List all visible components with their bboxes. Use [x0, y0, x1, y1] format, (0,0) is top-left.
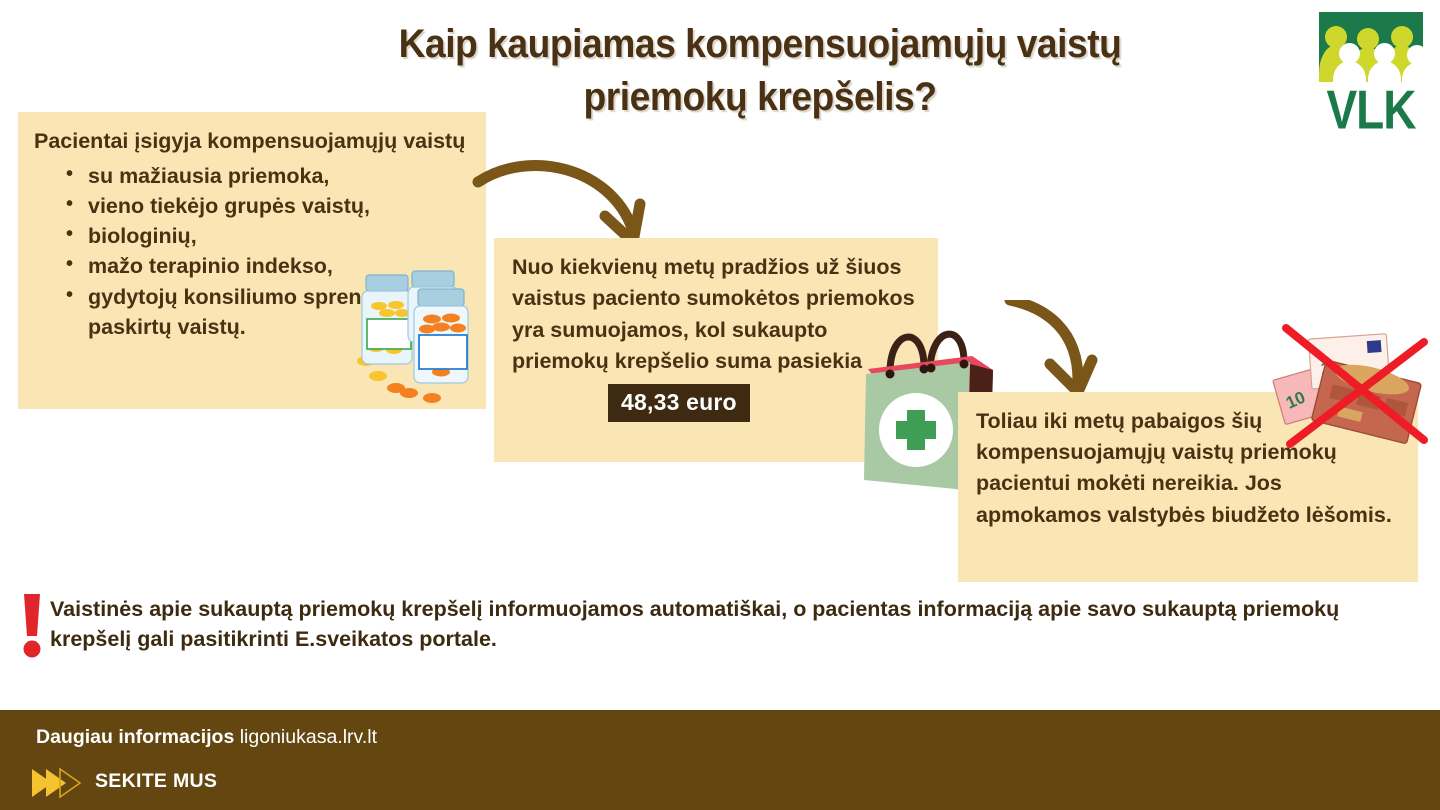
title-line-1: Kaip kaupiamas kompensuojamųjų vaistų [286, 18, 1235, 71]
double-chevron-icon [30, 767, 82, 799]
euro-banknotes-crossed-out-icon: 10 10 [1272, 318, 1438, 458]
page-title: Kaip kaupiamas kompensuojamųjų vaistų pr… [286, 18, 1235, 124]
more-info-label: Daugiau informacijos [36, 726, 234, 748]
warning-note: Vaistinės apie sukauptą priemokų krepšel… [14, 592, 1414, 658]
logo-people-band [1319, 12, 1423, 82]
footer-bar: Daugiau informacijos ligoniukasa.lrv.lt … [0, 710, 1440, 810]
vlk-logo: VLK [1313, 12, 1429, 136]
exclamation-mark-icon [14, 592, 50, 658]
threshold-amount-badge: 48,33 euro [608, 384, 750, 422]
warning-text: Vaistinės apie sukauptą priemokų krepšel… [50, 592, 1414, 654]
website-link[interactable]: ligoniukasa.lrv.lt [240, 726, 377, 748]
logo-wordmark: VLK [1313, 78, 1429, 142]
pill-bottles-icon [352, 243, 502, 408]
flow-arrow-2-icon [1000, 300, 1160, 405]
infographic-root: Kaip kaupiamas kompensuojamųjų vaistų pr… [0, 0, 1440, 810]
more-info-line: Daugiau informacijos ligoniukasa.lrv.lt [36, 726, 377, 749]
list-item: vieno tiekėjo grupės vaistų, [58, 191, 470, 221]
follow-us-label: SEKITE MUS [95, 770, 217, 793]
step-1-lead: Pacientai įsigyja kompensuojamųjų vaistų [34, 126, 470, 157]
list-item: su mažiausia priemoka, [58, 161, 470, 191]
